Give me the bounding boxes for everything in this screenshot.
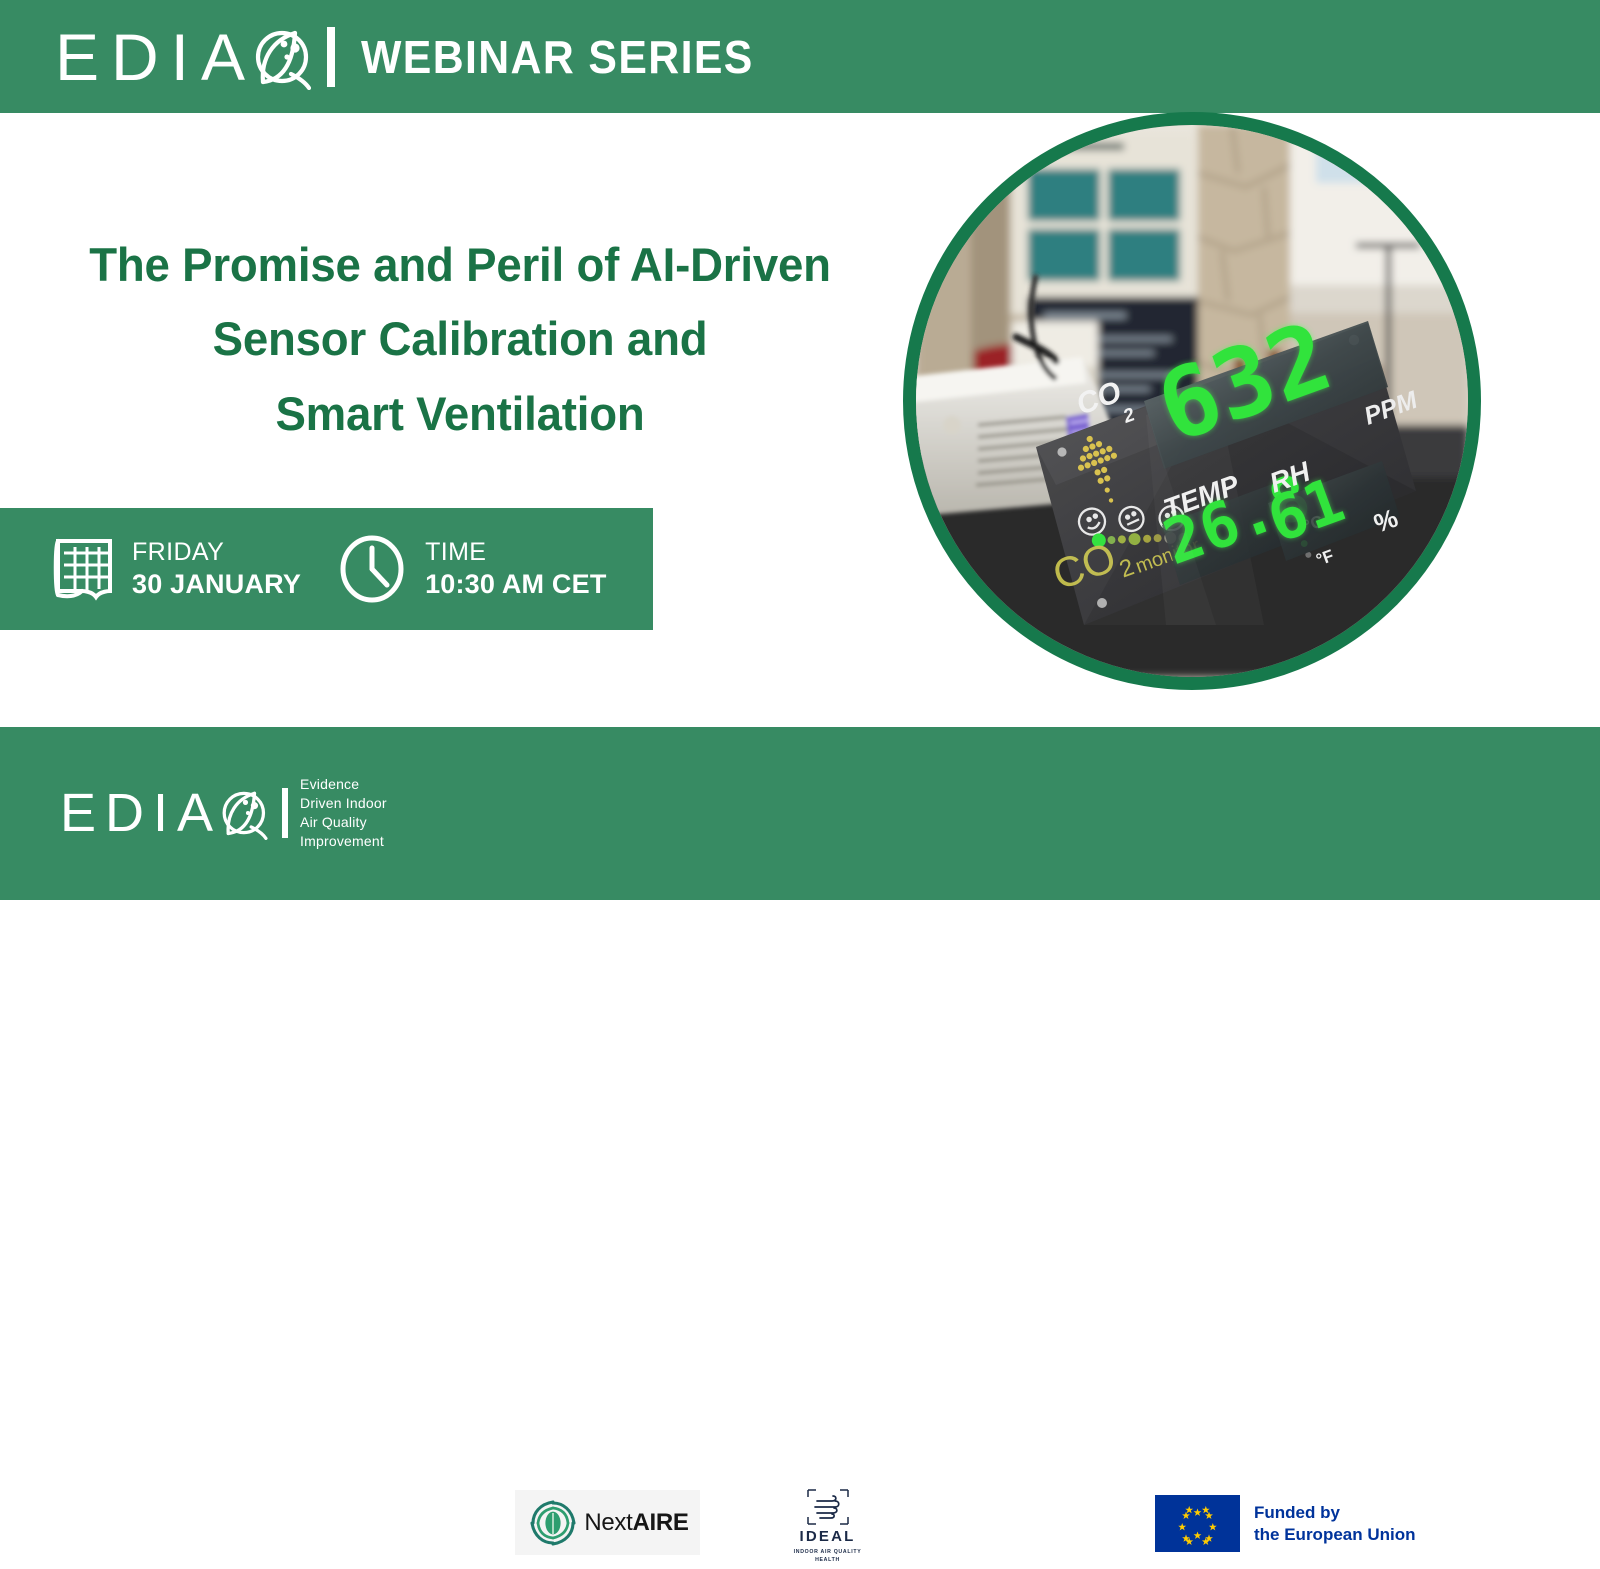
partner-logo-ideal[interactable]: IDEAL INDOOR AIR QUALITY HEALTH bbox=[785, 1477, 870, 1569]
header-series-label: WEBINAR SERIES bbox=[361, 34, 754, 80]
title-line-2: Sensor Calibration and bbox=[14, 302, 906, 376]
ediaqi-i-bar-icon bbox=[282, 788, 288, 838]
ediaqi-q-leaf-icon bbox=[218, 786, 268, 840]
nextaire-wordmark: NextAIRE bbox=[584, 1509, 688, 1537]
partner-logo-nextaire[interactable]: NextAIRE bbox=[515, 1490, 700, 1555]
eu-flag-icon bbox=[1155, 1495, 1240, 1552]
event-details-bar: FRIDAY 30 JANUARY TIME 10:30 AM CET bbox=[0, 508, 653, 630]
event-time-group: TIME 10:30 AM CET bbox=[337, 533, 606, 605]
tagline-line-4: Improvement bbox=[300, 832, 387, 851]
ideal-subtitle-line-2: HEALTH bbox=[794, 1557, 862, 1565]
event-time-value: 10:30 AM CET bbox=[425, 569, 606, 599]
tagline-line-1: Evidence bbox=[300, 775, 387, 794]
hero-photo: CO 2 bbox=[916, 125, 1468, 677]
ediaqi-i-bar-icon bbox=[327, 27, 335, 87]
nextaire-lockup: NextAIRE bbox=[526, 1496, 688, 1550]
page-title: The Promise and Peril of AI-Driven Senso… bbox=[0, 228, 920, 451]
hero-photo-circle: CO 2 bbox=[903, 112, 1481, 690]
event-time-text: TIME 10:30 AM CET bbox=[425, 538, 606, 599]
header-band: EDIA WEBINAR SERIES bbox=[0, 0, 1600, 113]
header-brand-letters: EDIA bbox=[55, 24, 257, 90]
footer-tagline: Evidence Driven Indoor Air Quality Impro… bbox=[300, 775, 387, 851]
event-date-text: FRIDAY 30 JANUARY bbox=[132, 538, 301, 599]
ideal-wordmark: IDEAL bbox=[800, 1529, 856, 1544]
nextaire-swirl-icon bbox=[526, 1496, 580, 1550]
clock-icon bbox=[337, 533, 407, 605]
title-line-1: The Promise and Peril of AI-Driven bbox=[14, 228, 906, 302]
tagline-line-2: Driven Indoor bbox=[300, 794, 387, 813]
ideal-airflow-icon bbox=[804, 1487, 852, 1527]
ideal-subtitle: INDOOR AIR QUALITY HEALTH bbox=[794, 1549, 862, 1565]
calendar-icon bbox=[52, 533, 114, 605]
eu-funding-line-1: Funded by bbox=[1254, 1502, 1416, 1524]
event-date-group: FRIDAY 30 JANUARY bbox=[52, 533, 301, 605]
title-line-3: Smart Ventilation bbox=[14, 377, 906, 451]
eu-funding-line-2: the European Union bbox=[1254, 1524, 1416, 1546]
event-date-label: FRIDAY bbox=[132, 538, 301, 566]
eu-funding-badge: Funded by the European Union bbox=[1155, 1495, 1443, 1552]
tagline-line-3: Air Quality bbox=[300, 813, 387, 832]
co2-monitor-photo: CO 2 bbox=[916, 125, 1468, 677]
event-date-value: 30 JANUARY bbox=[132, 569, 301, 599]
footer-brand-letters: EDIA bbox=[60, 786, 222, 840]
ediaqi-q-leaf-icon bbox=[251, 24, 311, 90]
ideal-subtitle-line-1: INDOOR AIR QUALITY bbox=[794, 1549, 862, 1557]
event-time-label: TIME bbox=[425, 538, 606, 566]
footer-band: EDIA Evidence Driven Indoor Air Quality … bbox=[0, 727, 1600, 900]
footer-logo: EDIA Evidence Driven Indoor Air Quality … bbox=[60, 775, 387, 851]
header-logo: EDIA WEBINAR SERIES bbox=[55, 24, 783, 90]
poster-canvas: EDIA WEBINAR SERIES The Promise and Peri… bbox=[0, 0, 1600, 900]
eu-funding-text: Funded by the European Union bbox=[1254, 1502, 1416, 1546]
